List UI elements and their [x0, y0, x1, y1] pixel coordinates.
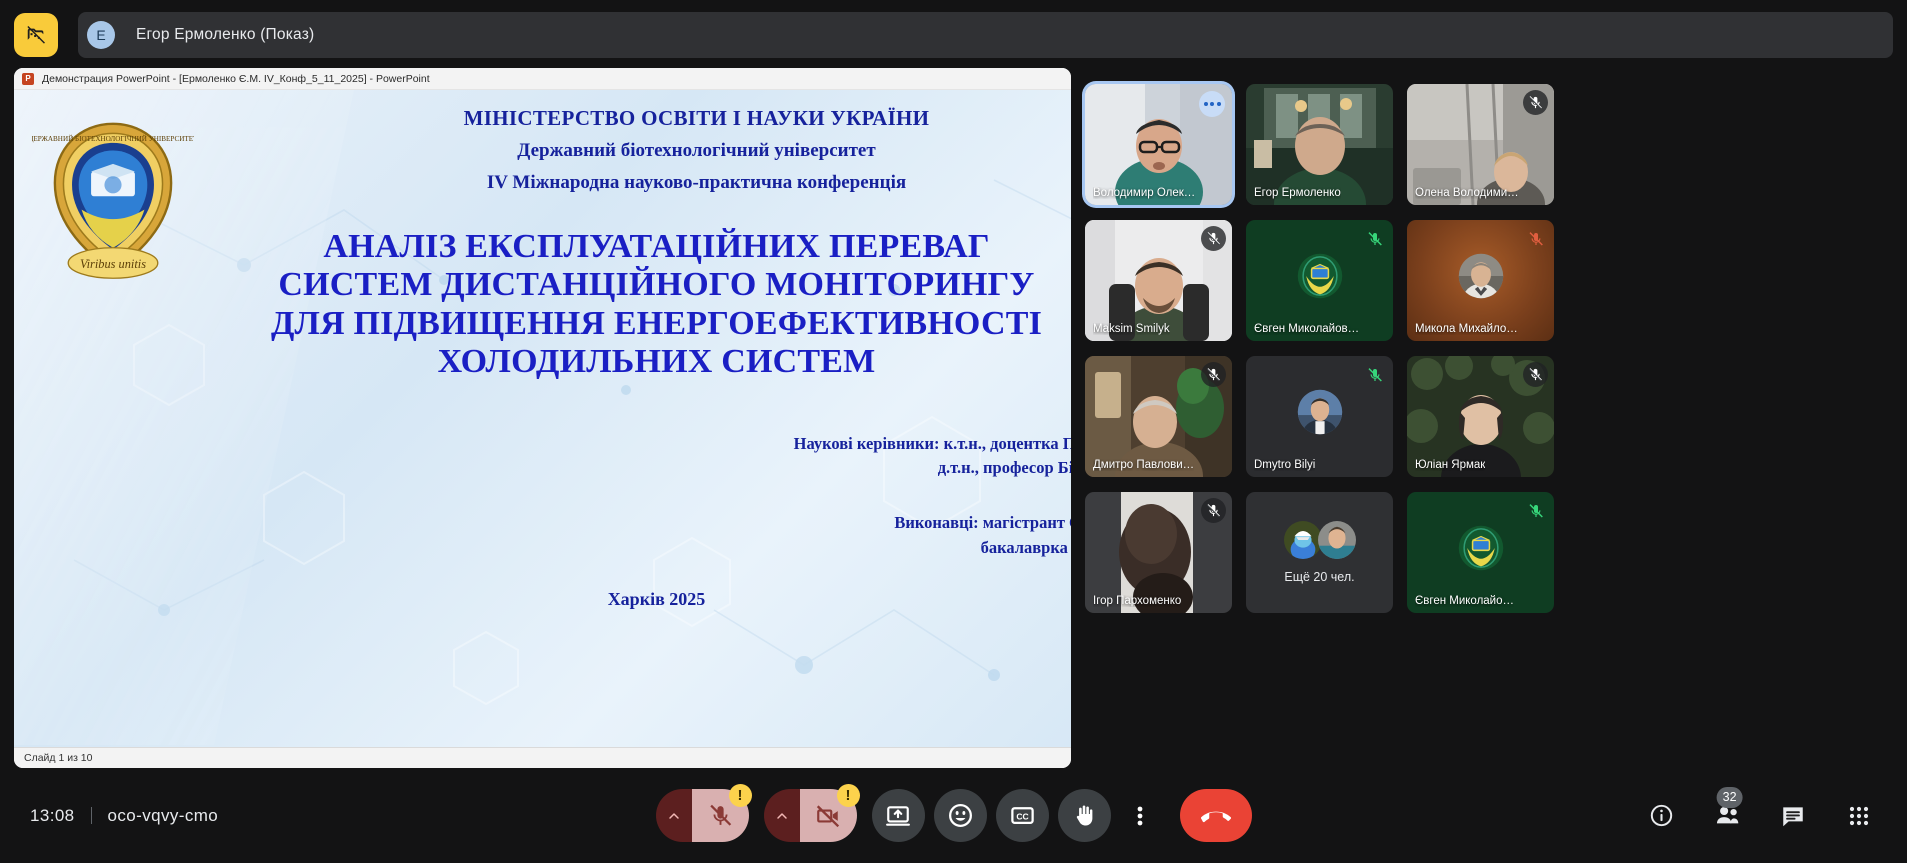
performers-block: Виконавці: магістрант Єрмоленко Є.М. бак…: [54, 511, 1071, 561]
participant-name: Євген Миколайов…: [1254, 323, 1359, 335]
participant-tile[interactable]: Юліан Ярмак: [1407, 356, 1554, 477]
stop-screenshare-icon: [25, 24, 47, 46]
camera-off-icon: [815, 803, 841, 829]
participant-name: Євген Миколайо…: [1415, 595, 1514, 607]
supervisors-line-2: д.т.н., професор Білецький Е.В.: [54, 456, 1071, 481]
slide-counter: Слайд 1 из 10: [24, 752, 93, 764]
participant-name: Юліан Ярмак: [1415, 459, 1485, 471]
chat-button[interactable]: [1771, 794, 1815, 838]
participant-name: Егор Ермоленко: [1254, 187, 1341, 199]
tile-more-options-button[interactable]: [1199, 91, 1225, 117]
overflow-avatar-1: [1284, 521, 1322, 559]
participant-tile[interactable]: Maksim Smilyk: [1085, 220, 1232, 341]
participant-name: Ігор Пархоменко: [1093, 595, 1181, 607]
emoji-smiley-icon: [947, 802, 974, 829]
participant-name: Олена Володими…: [1415, 187, 1519, 199]
powerpoint-icon: P: [22, 73, 34, 85]
raise-hand-icon: [1071, 802, 1098, 829]
participant-tile[interactable]: Олена Володими…: [1407, 84, 1554, 205]
info-icon: [1649, 803, 1674, 828]
participant-tile[interactable]: Володимир Олек…: [1085, 84, 1232, 205]
clock-label: 13:08: [30, 806, 75, 826]
apps-grid-icon: [1847, 804, 1871, 828]
presenter-avatar: E: [87, 21, 115, 49]
participant-avatar-photo: [1297, 389, 1343, 435]
mic-off-badge: [1362, 362, 1387, 387]
mic-off-badge: [1523, 362, 1548, 387]
participant-avatar-photo: [1458, 253, 1504, 299]
top-bar: E Егор Ермоленко (Показ): [0, 0, 1907, 70]
ministry-line: МІНІСТЕРСТВО ОСВІТИ І НАУКИ УКРАЇНИ: [134, 106, 1071, 131]
camera-options-chevron-button[interactable]: [764, 789, 800, 842]
participant-name: Дмитро Павлови…: [1093, 459, 1194, 471]
raise-hand-button[interactable]: [1058, 789, 1111, 842]
participant-name: Dmytro Bilyi: [1254, 459, 1315, 471]
participant-name: Микола Михайло…: [1415, 323, 1518, 335]
svg-text:ДЕРЖАВНИЙ БІОТЕХНОЛОГІЧНИЙ УНІ: ДЕРЖАВНИЙ БІОТЕХНОЛОГІЧНИЙ УНІВЕРСИТЕТ: [32, 135, 194, 143]
mic-off-badge: [1523, 90, 1548, 115]
slide-canvas: ДЕРЖАВНИЙ БІОТЕХНОЛОГІЧНИЙ УНІВЕРСИТЕТ V…: [14, 90, 1071, 747]
more-participants-label: Ещё 20 чел.: [1284, 570, 1354, 584]
meeting-meta: 13:08 oco-vqvy-cmo: [30, 806, 218, 826]
title-line-1: АНАЛІЗ ЕКСПЛУАТАЦІЙНИХ ПЕРЕВАГ: [54, 228, 1071, 266]
overflow-avatars: [1284, 521, 1356, 559]
conference-line: IV Міжнародна науково-практична конферен…: [134, 172, 1071, 194]
meta-divider: [91, 807, 92, 824]
participant-name: Maksim Smilyk: [1093, 323, 1170, 335]
mic-off-icon: [1367, 231, 1383, 247]
slide-main-title: АНАЛІЗ ЕКСПЛУАТАЦІЙНИХ ПЕРЕВАГ СИСТЕМ ДИ…: [54, 228, 1071, 382]
camera-warning-badge: !: [837, 784, 860, 807]
mic-off-badge: [1523, 226, 1548, 251]
emblem-motto: Viribus unitis: [80, 257, 146, 271]
participant-tile[interactable]: Ігор Пархоменко: [1085, 492, 1232, 613]
end-call-button[interactable]: [1180, 789, 1252, 842]
participant-tile[interactable]: Євген Миколайо…: [1407, 492, 1554, 613]
end-call-icon: [1201, 801, 1231, 831]
performers-line-1: Виконавці: магістрант Єрмоленко Є.М.: [54, 511, 1071, 536]
more-vertical-icon: [1137, 804, 1143, 828]
mic-options-chevron-button[interactable]: [656, 789, 692, 842]
stop-presenting-button[interactable]: [14, 13, 58, 57]
chevron-up-icon: [666, 808, 682, 824]
bottom-bar: 13:08 oco-vqvy-cmo !: [0, 768, 1907, 863]
university-line: Державний біотехнологічний університет: [134, 140, 1071, 162]
microphone-control-group: !: [656, 789, 749, 842]
university-emblem: ДЕРЖАВНИЙ БІОТЕХНОЛОГІЧНИЙ УНІВЕРСИТЕТ V…: [32, 118, 194, 286]
overflow-avatar-2: [1318, 521, 1356, 559]
participant-avatar: [1458, 525, 1504, 571]
participant-name: Володимир Олек…: [1093, 187, 1195, 199]
closed-captions-icon: CC: [1009, 802, 1036, 829]
performers-line-2: бакалаврка Єрмоленко О.В.: [54, 536, 1071, 561]
present-screen-icon: [885, 803, 911, 829]
mic-off-badge: [1201, 498, 1226, 523]
title-line-2: СИСТЕМ ДИСТАНЦІЙНОГО МОНІТОРИНГУ: [54, 266, 1071, 304]
more-options-button[interactable]: [1120, 789, 1160, 842]
mic-off-icon: [1528, 503, 1544, 519]
powerpoint-title-bar: P Демонстрация PowerPoint - [Ермоленко Є…: [14, 68, 1071, 90]
mic-off-icon: [1528, 367, 1543, 382]
call-controls: ! !: [656, 789, 1252, 842]
mic-off-icon: [708, 803, 733, 828]
mic-warning-badge: !: [729, 784, 752, 807]
city-year-line: Харків 2025: [54, 589, 1071, 610]
camera-control-group: !: [764, 789, 857, 842]
participant-tile[interactable]: Євген Миколайов…: [1246, 220, 1393, 341]
title-line-4: ХОЛОДИЛЬНИХ СИСТЕМ: [54, 343, 1071, 381]
closed-captions-button[interactable]: CC: [996, 789, 1049, 842]
powerpoint-window-title: Демонстрация PowerPoint - [Ермоленко Є.М…: [42, 73, 430, 85]
mic-off-badge: [1201, 226, 1226, 251]
participant-grid: Володимир Олек… Егор Ермоленко: [1085, 84, 1895, 613]
mic-off-badge: [1201, 362, 1226, 387]
right-tool-icons: 32: [1639, 794, 1881, 838]
participant-tile[interactable]: Егор Ермоленко: [1246, 84, 1393, 205]
emoji-reactions-button[interactable]: [934, 789, 987, 842]
more-participants-tile[interactable]: Ещё 20 чел.: [1246, 492, 1393, 613]
title-line-3: ДЛЯ ПІДВИЩЕННЯ ЕНЕРГОЕФЕКТИВНОСТІ: [54, 305, 1071, 343]
presenter-label: Егор Ермоленко (Показ): [136, 26, 314, 44]
chat-icon: [1780, 803, 1806, 829]
participant-tile[interactable]: Дмитро Павлови…: [1085, 356, 1232, 477]
supervisors-line-1: Наукові керівники: к.т.н., доцентка Петр…: [54, 432, 1071, 457]
participant-tile[interactable]: Микола Михайло…: [1407, 220, 1554, 341]
mic-off-icon: [1206, 503, 1221, 518]
meeting-details-button[interactable]: [1639, 794, 1683, 838]
powerpoint-window: P Демонстрация PowerPoint - [Ермоленко Є…: [14, 68, 1071, 768]
participants-button[interactable]: 32: [1705, 794, 1749, 838]
mic-off-icon: [1528, 95, 1543, 110]
mic-off-badge: [1362, 226, 1387, 251]
present-screen-button[interactable]: [872, 789, 925, 842]
participant-avatar: [1297, 253, 1343, 299]
cc-label: CC: [1016, 812, 1028, 822]
activities-button[interactable]: [1837, 794, 1881, 838]
presenting-status-chip: E Егор Ермоленко (Показ): [78, 12, 1893, 58]
mic-off-badge: [1523, 498, 1548, 523]
meeting-code-label: oco-vqvy-cmo: [108, 806, 219, 826]
supervisors-block: Наукові керівники: к.т.н., доцентка Петр…: [54, 432, 1071, 482]
mic-off-icon: [1367, 367, 1383, 383]
shared-screen-stage[interactable]: P Демонстрация PowerPoint - [Ермоленко Є…: [14, 68, 1071, 768]
chevron-up-icon: [774, 808, 790, 824]
mic-off-icon: [1206, 367, 1221, 382]
participant-tile[interactable]: Dmytro Bilyi: [1246, 356, 1393, 477]
powerpoint-status-bar: Слайд 1 из 10: [14, 747, 1071, 768]
participants-count-badge: 32: [1717, 787, 1743, 808]
mic-off-icon: [1528, 231, 1544, 247]
mic-off-icon: [1206, 231, 1221, 246]
slide-header-block: МІНІСТЕРСТВО ОСВІТИ І НАУКИ УКРАЇНИ Держ…: [54, 106, 1071, 194]
